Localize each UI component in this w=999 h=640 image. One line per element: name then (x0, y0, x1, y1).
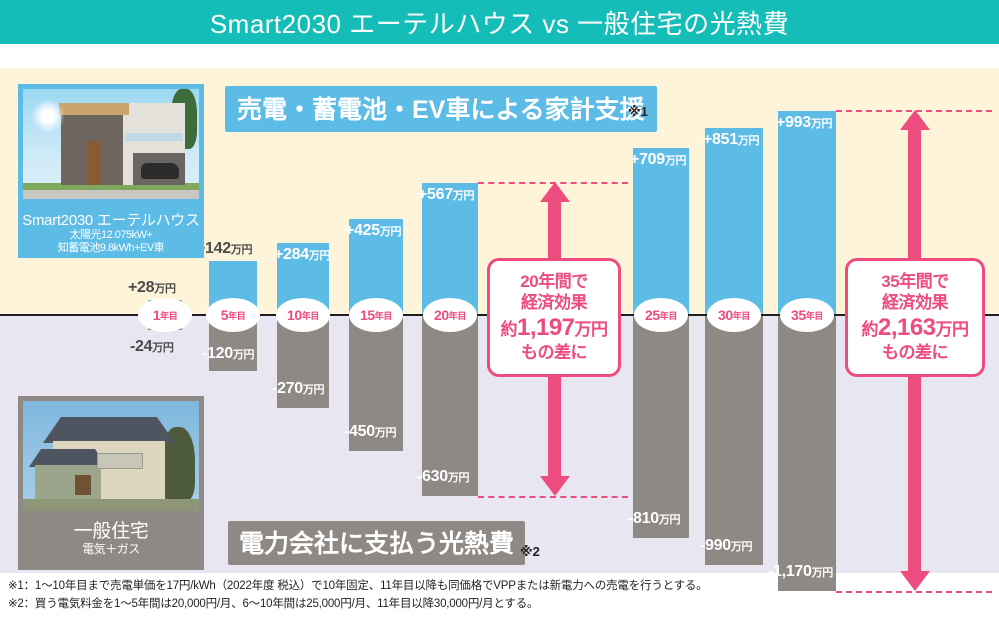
page-title: Smart2030 エーテルハウス vs 一般住宅の光熱費 (210, 4, 789, 41)
infographic-page: Smart2030 エーテルハウス vs 一般住宅の光熱費 +28万円 +142… (0, 0, 999, 640)
value-label-positive-1: +28万円 (128, 279, 176, 297)
year-label-15: 15年目 (349, 298, 403, 332)
footnote-marker-2: ※2 (520, 544, 540, 560)
year-label-1: 1年目 (138, 298, 192, 332)
bar-positive-25 (633, 148, 689, 314)
footnote-2: ※2：買う電気料金を1〜5年間は20,000円/月、6〜10年間は25,000円… (8, 596, 707, 614)
smart2030-house-photo (23, 89, 199, 199)
standard-house-caption: 一般住宅 電気＋ガス (18, 521, 204, 570)
value-label-positive-35: +993万円 (776, 114, 832, 132)
value-label-positive-20: +567万円 (418, 186, 474, 204)
value-label-negative-25: -810万円 (628, 510, 680, 528)
value-label-positive-15: +425万円 (345, 222, 401, 240)
annotation-dash-bottom-20y (478, 496, 628, 498)
bar-positive-35 (778, 111, 836, 314)
footnotes: ※1：1〜10年目まで売電単価を17円/kWh（2022年度 税込）で10年固定… (8, 578, 707, 614)
standard-house-spec: 電気＋ガス (18, 543, 204, 556)
year-label-20: 20年目 (423, 298, 477, 332)
bar-positive-30 (705, 128, 763, 314)
value-label-positive-25: +709万円 (630, 151, 686, 169)
callout-amount: 約2,163万円 (861, 313, 968, 342)
value-label-positive-30: +851万円 (703, 131, 759, 149)
bar-negative-35 (778, 316, 836, 591)
value-label-negative-1: -24万円 (130, 338, 174, 356)
value-label-negative-30: -990万円 (700, 537, 752, 555)
value-label-negative-5: -120万円 (202, 345, 254, 363)
bar-negative-25 (633, 316, 689, 538)
value-label-negative-20: -630万円 (417, 468, 469, 486)
smart2030-caption: Smart2030 エーテルハウス 太陽光12.075kW+ 知蓄電池9.8kW… (18, 213, 204, 258)
callout-line-1: 20年間で (520, 272, 587, 293)
year-label-35: 35年目 (780, 298, 834, 332)
callout-line-2: 経済効果 (882, 293, 948, 314)
callout-line-4: もの差に (882, 343, 948, 364)
annotation-dash-bottom-35y (836, 591, 992, 593)
title-bar: Smart2030 エーテルハウス vs 一般住宅の光熱費 (0, 0, 999, 44)
smart2030-spec-battery: 知蓄電池9.8kWh+EV車 (18, 242, 204, 254)
banner-utility-payment: 電力会社に支払う光熱費 (228, 521, 525, 565)
bar-negative-30 (705, 316, 763, 565)
callout-amount: 約1,197万円 (500, 313, 607, 342)
callout-line-4: もの差に (521, 343, 587, 364)
callout-20-years: 20年間で 経済効果 約1,197万円 もの差に (487, 258, 621, 377)
year-label-30: 30年目 (707, 298, 761, 332)
value-label-negative-15: -450万円 (344, 423, 396, 441)
standard-house-title: 一般住宅 (18, 521, 204, 542)
standard-house-photo (23, 401, 199, 511)
year-label-5: 5年目 (206, 298, 260, 332)
smart2030-title: Smart2030 エーテルハウス (18, 213, 204, 230)
year-label-10: 10年目 (276, 298, 330, 332)
value-label-positive-10: +284万円 (274, 246, 330, 264)
banner-household-support: 売電・蓄電池・EV車による家計支援 (225, 86, 657, 132)
footnote-marker-1: ※1 (628, 104, 648, 120)
callout-35-years: 35年間で 経済効果 約2,163万円 もの差に (845, 258, 985, 377)
value-label-positive-5: +142万円 (196, 240, 252, 258)
annotation-arrow-head-down-35y (900, 571, 930, 591)
annotation-arrow-head-up-20y (540, 182, 570, 202)
legend-card-standard-house: 一般住宅 電気＋ガス (18, 396, 204, 570)
annotation-arrow-head-up-35y (900, 110, 930, 130)
callout-line-1: 35年間で (881, 272, 948, 293)
footnote-1: ※1：1〜10年目まで売電単価を17円/kWh（2022年度 税込）で10年固定… (8, 578, 707, 596)
callout-line-2: 経済効果 (521, 293, 587, 314)
legend-card-smart2030: Smart2030 エーテルハウス 太陽光12.075kW+ 知蓄電池9.8kW… (18, 84, 204, 258)
value-label-negative-35: -1,170万円 (768, 563, 833, 581)
year-label-25: 25年目 (634, 298, 688, 332)
value-label-negative-10: -270万円 (272, 380, 324, 398)
smart2030-spec-solar: 太陽光12.075kW+ (18, 229, 204, 241)
annotation-arrow-head-down-20y (540, 476, 570, 496)
